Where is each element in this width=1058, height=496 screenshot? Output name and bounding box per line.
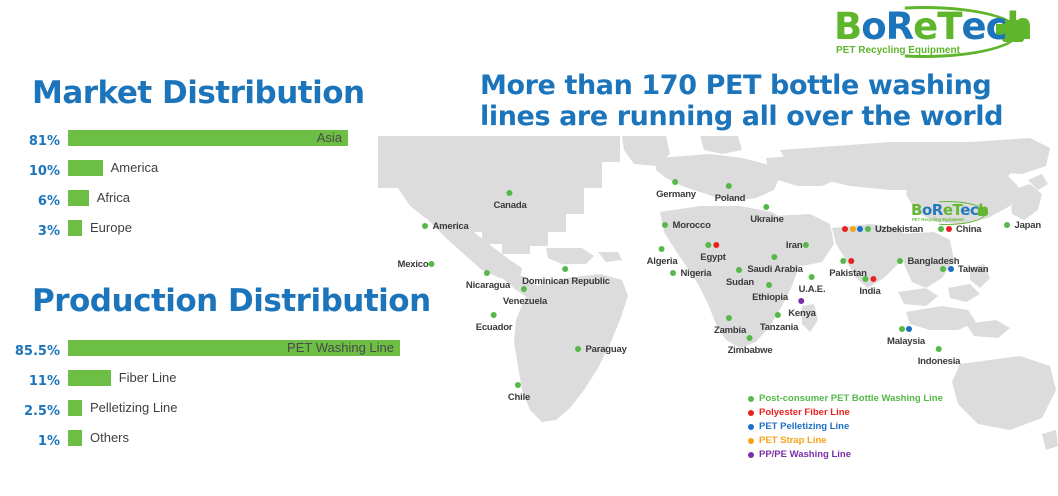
logo-tagline: PET Recycling Equipment bbox=[836, 45, 960, 56]
map-pin-japan[interactable]: Japan bbox=[1004, 220, 1041, 231]
map-pin-india[interactable]: India bbox=[859, 274, 880, 297]
map-pin-label: Mexico bbox=[397, 259, 428, 270]
bar-track bbox=[68, 430, 82, 446]
legend-dot-icon bbox=[748, 424, 754, 430]
bar-row: 81%Asia bbox=[0, 130, 400, 160]
map-pin-dots-icon bbox=[647, 244, 678, 255]
map-pin-dots-icon bbox=[859, 274, 880, 285]
map-pin-saudi-arabia[interactable]: Saudi Arabia bbox=[747, 252, 802, 275]
map-dot-icon bbox=[803, 242, 809, 248]
map-pin-sudan[interactable]: Sudan bbox=[726, 265, 754, 288]
legend-item[interactable]: PET Pelletizing Line bbox=[748, 420, 943, 434]
map-pin-dots-icon bbox=[887, 324, 925, 335]
map-dot-icon bbox=[948, 266, 954, 272]
map-dot-icon bbox=[484, 270, 490, 276]
bar-fill bbox=[68, 400, 82, 416]
map-pin-dots-icon bbox=[714, 313, 746, 324]
map-pin-dots-icon bbox=[728, 333, 773, 344]
logo-letter-2: R bbox=[886, 8, 914, 46]
bar-track: PET Washing Line bbox=[68, 340, 400, 356]
map-pin-label: Japan bbox=[1015, 220, 1041, 231]
map-pin-egypt[interactable]: Egypt bbox=[700, 240, 725, 263]
bar-fill bbox=[68, 370, 111, 386]
map-pin-dots-icon bbox=[670, 268, 678, 279]
map-dot-icon bbox=[658, 246, 664, 252]
map-pin-label: Zimbabwe bbox=[728, 345, 773, 356]
map-dot-icon bbox=[798, 298, 804, 304]
map-pin-mexico[interactable]: Mexico bbox=[396, 259, 436, 270]
logo-letter-6: c bbox=[986, 8, 1007, 46]
production-distribution-chart: 85.5%PET Washing Line11%Fiber Line2.5%Pe… bbox=[0, 340, 420, 460]
map-pin-label: Venezuela bbox=[503, 296, 547, 307]
bar-category-label: Europe bbox=[90, 220, 132, 236]
map-dot-icon bbox=[771, 254, 777, 260]
bar-category-label: Africa bbox=[97, 190, 130, 206]
map-pin-label: Sudan bbox=[726, 277, 754, 288]
logo-letter-5: e bbox=[961, 8, 985, 46]
map-pin-paraguay[interactable]: Paraguay bbox=[575, 344, 627, 355]
map-pin-label: America bbox=[433, 221, 469, 232]
map-dot-icon bbox=[766, 282, 772, 288]
map-dot-icon bbox=[850, 226, 856, 232]
map-pin-dots-icon bbox=[918, 344, 961, 355]
bar-category-label: America bbox=[111, 160, 159, 176]
bar-row: 6%Africa bbox=[0, 190, 400, 220]
bar-fill bbox=[68, 190, 89, 206]
map-pin-label: Ukraine bbox=[750, 214, 783, 225]
map-dot-icon bbox=[746, 335, 752, 341]
logo-wordmark: BoReTech bbox=[834, 8, 1032, 46]
map-pin-dots-icon bbox=[493, 188, 526, 199]
market-distribution-title: Market Distribution bbox=[32, 75, 365, 111]
map-pin-dots-icon bbox=[940, 264, 955, 275]
map-dot-icon bbox=[870, 276, 876, 282]
map-pin-dots-icon bbox=[1004, 220, 1012, 231]
legend-dot-icon bbox=[748, 396, 754, 402]
map-pin-indonesia[interactable]: Indonesia bbox=[918, 344, 961, 367]
map-pin-dots-icon bbox=[760, 310, 798, 321]
bar-category-label: Asia bbox=[317, 130, 342, 146]
map-pin-morocco[interactable]: Morocco bbox=[662, 220, 711, 231]
bar-value-label: 1% bbox=[0, 434, 60, 450]
market-distribution-heading: Market Distribution bbox=[32, 75, 365, 111]
watermark-tagline: PET Recycling Equipment bbox=[912, 217, 964, 222]
bar-track bbox=[68, 190, 89, 206]
map-pin-ecuador[interactable]: Ecuador bbox=[476, 310, 513, 333]
map-pin-u-a-e[interactable]: U.A.E. bbox=[799, 272, 826, 295]
map-pin-label: Poland bbox=[715, 193, 745, 204]
map-dot-icon bbox=[422, 223, 428, 229]
map-pin-label: U.A.E. bbox=[799, 284, 826, 295]
map-pin-label: Iran bbox=[786, 240, 803, 251]
legend-item[interactable]: PET Strap Line bbox=[748, 434, 943, 448]
map-dot-icon bbox=[705, 242, 711, 248]
map-dot-icon bbox=[562, 266, 568, 272]
legend-item[interactable]: PP/PE Washing Line bbox=[748, 448, 943, 462]
bar-value-label: 11% bbox=[0, 374, 60, 390]
map-pin-label: Egypt bbox=[700, 252, 725, 263]
map-pin-dots-icon bbox=[422, 221, 430, 232]
map-pin-label: Ethiopia bbox=[752, 292, 788, 303]
map-pin-dots-icon bbox=[662, 220, 670, 231]
map-pin-label: Canada bbox=[493, 200, 526, 211]
map-dot-icon bbox=[506, 190, 512, 196]
map-dot-icon bbox=[490, 312, 496, 318]
map-pin-dots-icon bbox=[799, 272, 826, 283]
map-pin-dots-icon bbox=[747, 252, 802, 263]
bar-fill bbox=[68, 430, 82, 446]
map-pin-chile[interactable]: Chile bbox=[508, 380, 530, 403]
map-pin-ethiopia[interactable]: Ethiopia bbox=[752, 280, 788, 303]
bar-value-label: 10% bbox=[0, 164, 60, 180]
map-pin-label: Paraguay bbox=[586, 344, 627, 355]
map-dot-icon bbox=[940, 266, 946, 272]
map-pin-label: Taiwan bbox=[958, 264, 988, 275]
bar-value-label: 3% bbox=[0, 224, 60, 240]
map-dot-icon bbox=[906, 326, 912, 332]
bar-category-label: Pelletizing Line bbox=[90, 400, 177, 416]
map-pin-dots-icon bbox=[700, 240, 725, 251]
logo-letter-0: B bbox=[834, 8, 861, 46]
bar-track bbox=[68, 400, 82, 416]
logo-letter-3: e bbox=[913, 8, 937, 46]
legend-dot-icon bbox=[748, 452, 754, 458]
bar-row: 85.5%PET Washing Line bbox=[0, 340, 420, 370]
map-dot-icon bbox=[842, 226, 848, 232]
map-pin-germany[interactable]: Germany bbox=[656, 177, 696, 200]
bar-row: 11%Fiber Line bbox=[0, 370, 420, 400]
map-pin-dots-icon bbox=[829, 256, 866, 267]
bar-row: 2.5%Pelletizing Line bbox=[0, 400, 420, 430]
map-dot-icon bbox=[672, 179, 678, 185]
map-pin-label: Tanzania bbox=[760, 322, 798, 333]
map-pin-label: Nigeria bbox=[681, 268, 712, 279]
map-dot-icon bbox=[515, 382, 521, 388]
map-pin-algeria[interactable]: Algeria bbox=[647, 244, 678, 267]
map-pin-dots-icon bbox=[842, 224, 872, 235]
headline-text: More than 170 PET bottle washing lines a… bbox=[480, 70, 1040, 132]
map-pin-dots-icon bbox=[752, 280, 788, 291]
map-dot-icon bbox=[857, 226, 863, 232]
bar-row: 3%Europe bbox=[0, 220, 400, 250]
bar-track bbox=[68, 160, 103, 176]
map-pin-label: Indonesia bbox=[918, 356, 961, 367]
map-pin-dots-icon bbox=[503, 284, 547, 295]
bar-fill bbox=[68, 220, 82, 236]
bar-value-label: 81% bbox=[0, 134, 60, 150]
map-pin-iran[interactable]: Iran bbox=[785, 240, 810, 251]
bar-row: 10%America bbox=[0, 160, 400, 190]
map-dot-icon bbox=[763, 204, 769, 210]
map-pin-dots-icon bbox=[726, 265, 754, 276]
bar-value-label: 2.5% bbox=[0, 404, 60, 420]
legend-label: PET Pelletizing Line bbox=[759, 421, 849, 432]
map-dot-icon bbox=[848, 258, 854, 264]
map-pin-dots-icon bbox=[466, 268, 510, 279]
map-dot-icon bbox=[898, 326, 904, 332]
world-map: CanadaAmericaMexicoNicaraguaDominican Re… bbox=[370, 128, 1058, 496]
boretech-logo: BoReTech PET Recycling Equipment bbox=[826, 8, 1036, 56]
map-pin-zimbabwe[interactable]: Zimbabwe bbox=[728, 333, 773, 356]
map-dot-icon bbox=[429, 261, 435, 267]
map-dot-icon bbox=[726, 315, 732, 321]
map-pin-label: India bbox=[859, 286, 880, 297]
map-dot-icon bbox=[1004, 222, 1010, 228]
map-pin-label: Germany bbox=[656, 189, 696, 200]
watermark-wordmark: BoReTech bbox=[911, 202, 989, 218]
bar-track: Asia bbox=[68, 130, 348, 146]
legend-dot-icon bbox=[748, 438, 754, 444]
map-dot-icon bbox=[862, 276, 868, 282]
bar-value-label: 6% bbox=[0, 194, 60, 210]
legend-item[interactable]: Polyester Fiber Line bbox=[748, 406, 943, 420]
map-dot-icon bbox=[840, 258, 846, 264]
map-pin-dots-icon bbox=[575, 344, 583, 355]
map-pin-dots-icon bbox=[897, 256, 905, 267]
map-pin-taiwan[interactable]: Taiwan bbox=[940, 264, 988, 275]
map-pin-poland[interactable]: Poland bbox=[715, 181, 745, 204]
bar-row: 1%Others bbox=[0, 430, 420, 460]
map-pin-label: Saudi Arabia bbox=[747, 264, 802, 275]
map-dot-icon bbox=[736, 267, 742, 273]
legend-label: PET Strap Line bbox=[759, 435, 827, 446]
bar-value-label: 85.5% bbox=[0, 344, 60, 360]
bar-fill bbox=[68, 160, 103, 176]
map-pin-tanzania[interactable]: Tanzania bbox=[760, 310, 798, 333]
map-pin-ukraine[interactable]: Ukraine bbox=[750, 202, 783, 225]
bar-fill bbox=[68, 130, 348, 146]
legend-label: PP/PE Washing Line bbox=[759, 449, 851, 460]
map-pin-dots-icon bbox=[476, 310, 513, 321]
bar-track bbox=[68, 220, 82, 236]
map-dot-icon bbox=[575, 346, 581, 352]
map-pin-dots-icon bbox=[656, 177, 696, 188]
logo-letter-7: h bbox=[1007, 8, 1032, 46]
map-pin-label: Algeria bbox=[647, 256, 678, 267]
map-dot-icon bbox=[662, 222, 668, 228]
map-dot-icon bbox=[865, 226, 871, 232]
legend-item[interactable]: Post-consumer PET Bottle Washing Line bbox=[748, 392, 943, 406]
map-pin-label: Chile bbox=[508, 392, 530, 403]
legend-label: Polyester Fiber Line bbox=[759, 407, 850, 418]
map-pin-label: Morocco bbox=[673, 220, 711, 231]
logo-letter-7: h bbox=[978, 201, 988, 219]
map-dot-icon bbox=[670, 270, 676, 276]
map-dot-icon bbox=[808, 274, 814, 280]
map-pin-canada[interactable]: Canada bbox=[493, 188, 526, 211]
map-dot-icon bbox=[775, 312, 781, 318]
map-dot-icon bbox=[935, 346, 941, 352]
map-dot-icon bbox=[897, 258, 903, 264]
map-pin-venezuela[interactable]: Venezuela bbox=[503, 284, 547, 307]
map-legend: Post-consumer PET Bottle Washing LinePol… bbox=[748, 392, 943, 462]
bar-category-label: Fiber Line bbox=[119, 370, 177, 386]
logo-letter-1: o bbox=[861, 8, 885, 46]
legend-label: Post-consumer PET Bottle Washing Line bbox=[759, 393, 943, 404]
map-dot-icon bbox=[713, 242, 719, 248]
map-pin-dots-icon bbox=[788, 296, 816, 307]
map-pin-nigeria[interactable]: Nigeria bbox=[670, 268, 711, 279]
map-dot-icon bbox=[521, 286, 527, 292]
map-watermark-logo: BoReTech PET Recycling Equipment bbox=[908, 202, 992, 228]
map-pin-dots-icon bbox=[522, 264, 610, 275]
bar-track bbox=[68, 370, 111, 386]
map-pin-dots-icon bbox=[750, 202, 783, 213]
map-pin-dots-icon bbox=[803, 240, 811, 251]
map-pin-america[interactable]: America bbox=[422, 221, 469, 232]
infographic-canvas: BoReTech PET Recycling Equipment Market … bbox=[0, 0, 1058, 496]
map-pin-label: Ecuador bbox=[476, 322, 513, 333]
map-pin-dots-icon bbox=[429, 259, 437, 270]
map-dot-icon bbox=[726, 183, 732, 189]
logo-letter-4: T bbox=[937, 8, 961, 46]
market-distribution-chart: 81%Asia10%America6%Africa3%Europe bbox=[0, 130, 400, 250]
legend-dot-icon bbox=[748, 410, 754, 416]
map-pin-dots-icon bbox=[508, 380, 530, 391]
map-pin-dots-icon bbox=[715, 181, 745, 192]
bar-category-label: Others bbox=[90, 430, 129, 446]
